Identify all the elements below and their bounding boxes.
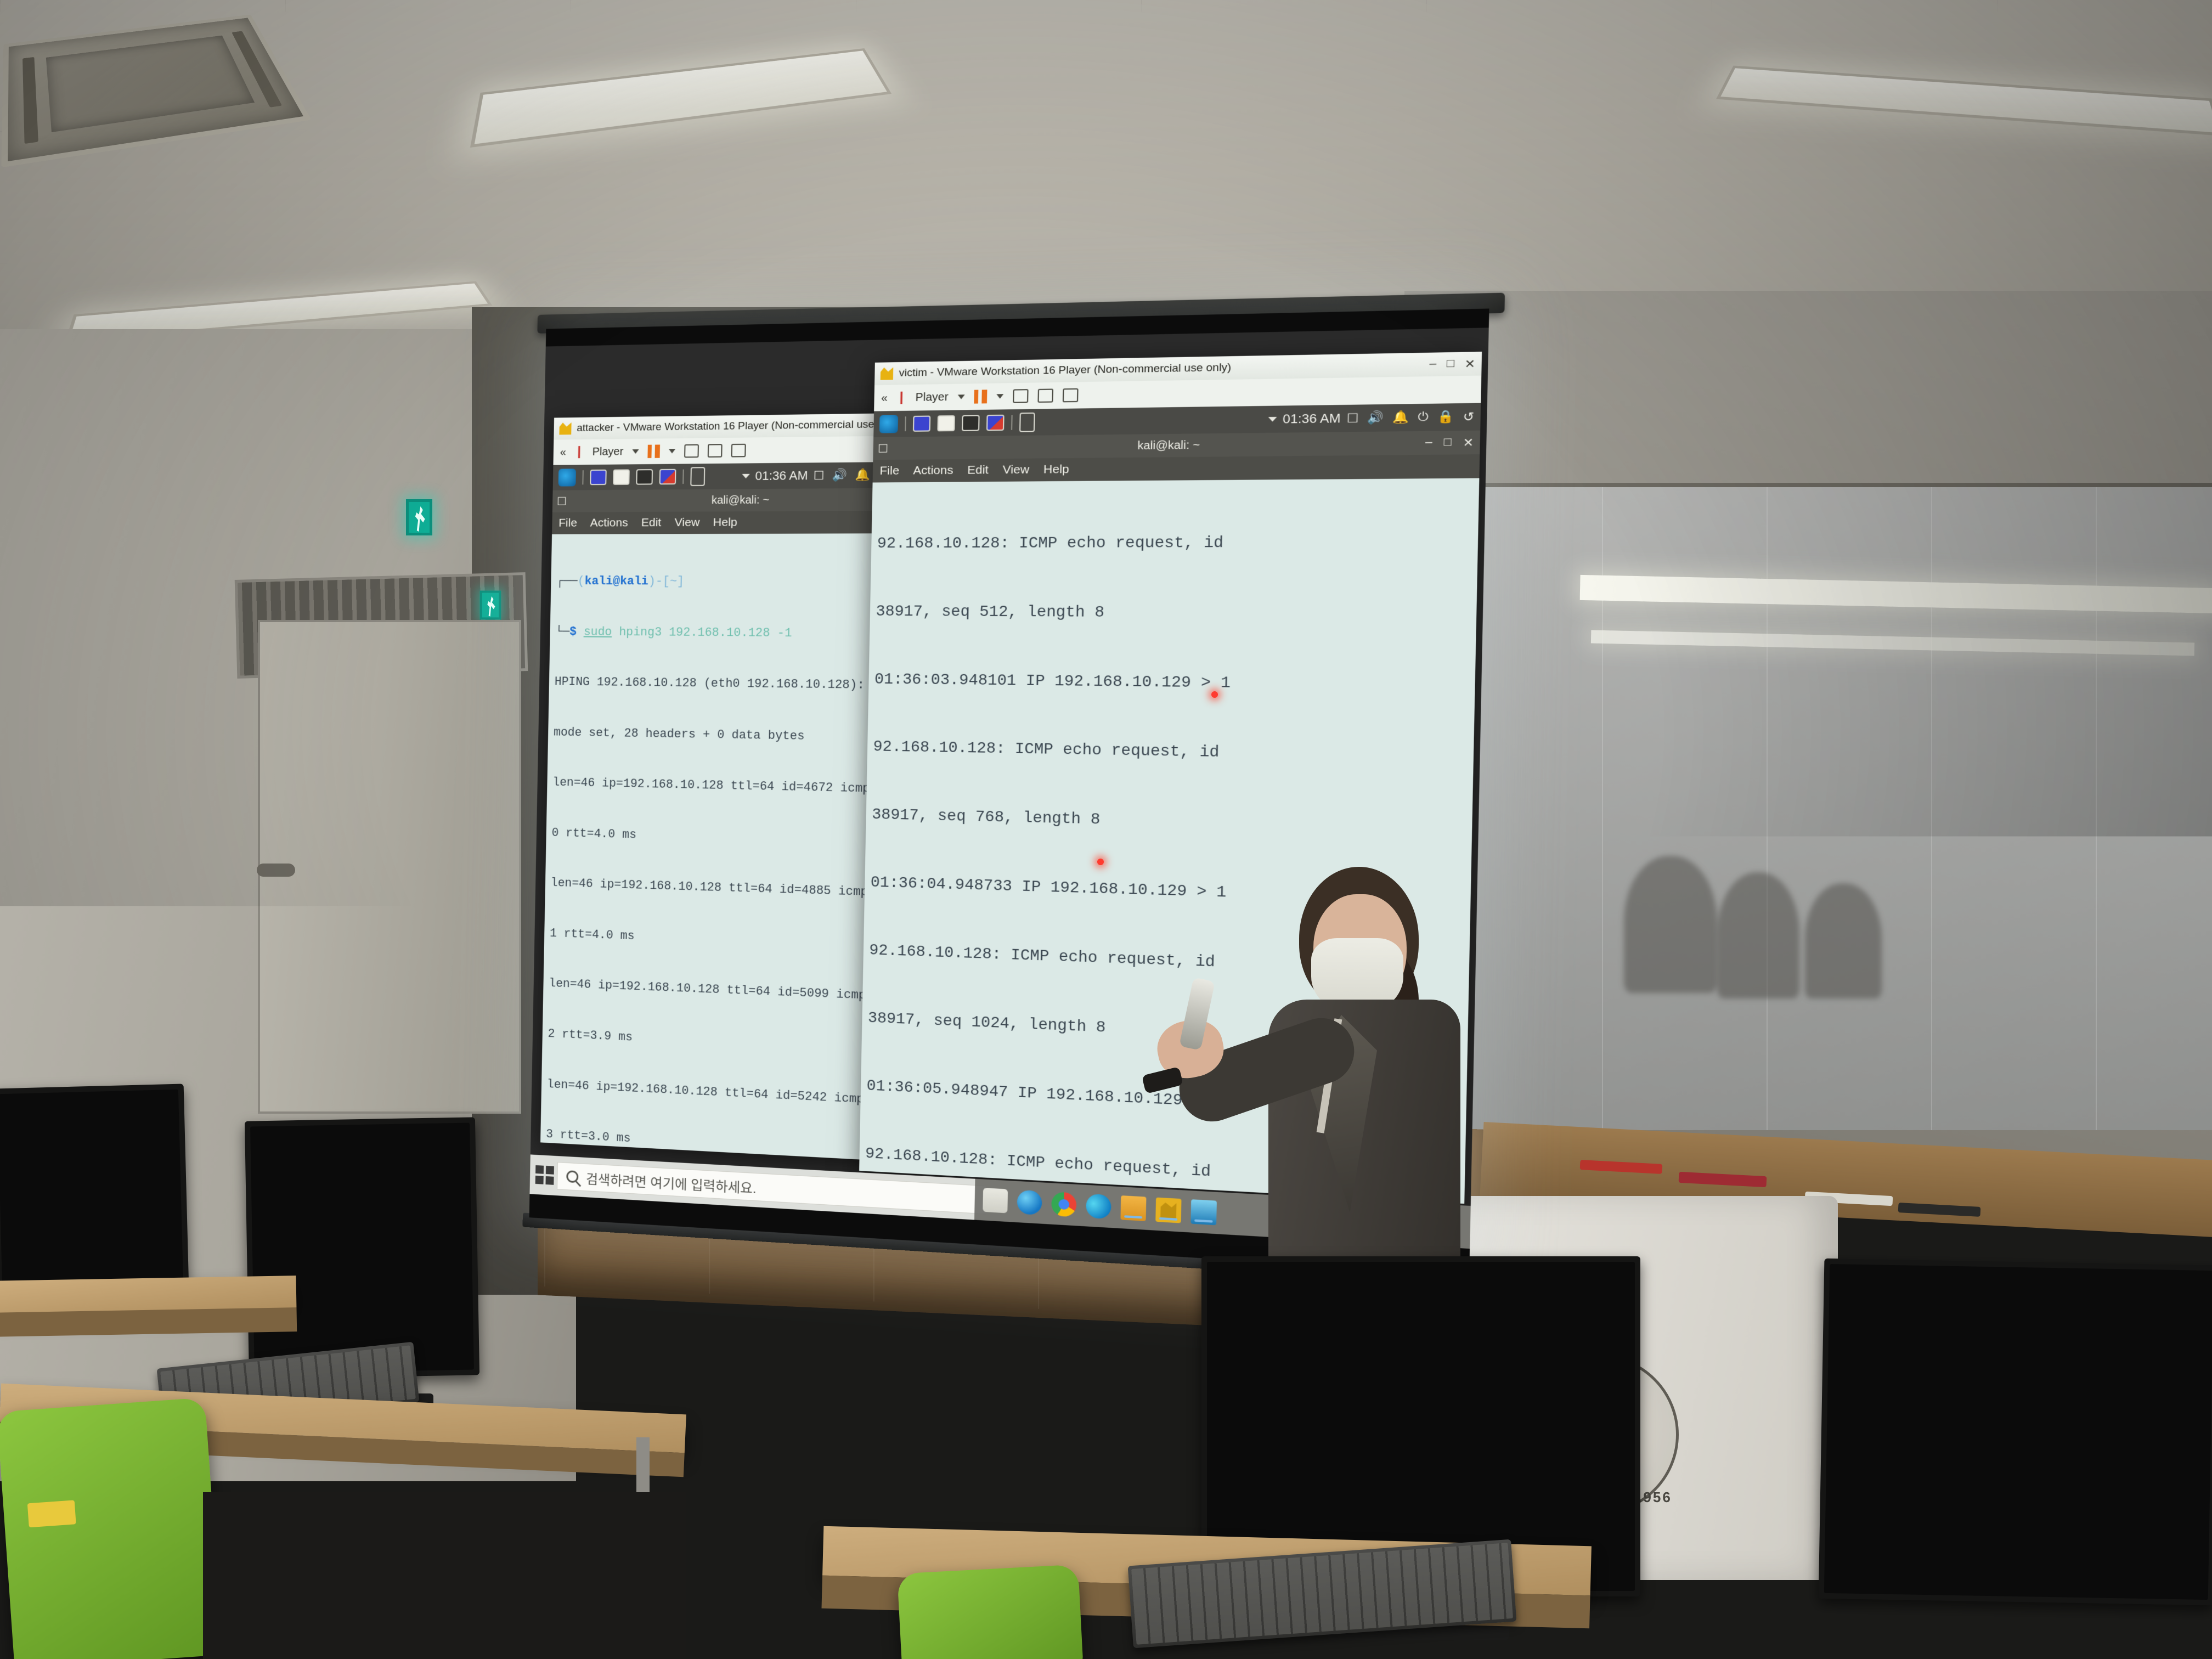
panel-separator-2 [682,470,684,484]
pause-icon[interactable] [647,444,660,458]
laser-pointer-dot-2 [1211,691,1218,698]
output-line: 01:36:03.948101 IP 192.168.10.129 > 1 [874,669,1470,698]
display-icon[interactable]: ☐ [1347,411,1359,426]
collapse-toolbar-icon[interactable]: « [560,446,566,459]
player-menu-button[interactable]: Player [915,391,949,404]
kali-dragon-icon[interactable] [879,415,898,433]
lock-icon[interactable]: 🔒 [1437,410,1454,424]
task-view-icon[interactable] [983,1188,1008,1213]
monitor-front-right [1819,1259,2212,1605]
chair-green[interactable] [0,1397,223,1659]
volume-icon[interactable]: 🔊 [832,469,848,482]
person-silhouette-1 [1624,856,1717,993]
burp-icon[interactable] [659,469,676,485]
monitor-back-mid [245,1117,479,1379]
search-icon [566,1170,578,1183]
search-placeholder: 검색하려면 여기에 입력하세요. [586,1168,757,1197]
menu-actions[interactable]: Actions [590,516,628,529]
menu-actions[interactable]: Actions [913,464,953,477]
vmware-logo-icon [559,422,571,435]
fullscreen-icon[interactable] [1037,388,1053,403]
person-silhouette-3 [1805,883,1882,998]
terminal-title-text: kali@kali: ~ [1137,438,1200,453]
person-silhouette-2 [1717,872,1799,998]
menu-file[interactable]: File [879,464,899,478]
workspace-switcher-icon[interactable] [1019,413,1035,432]
minimize-icon[interactable]: – [1429,357,1436,372]
command-rest: hping3 192.168.10.128 -1 [619,625,792,640]
panel-separator [905,416,906,431]
unity-mode-icon[interactable] [1063,388,1079,403]
terminal-icon[interactable] [913,415,930,431]
collapse-toolbar-icon[interactable]: « [881,392,888,405]
chair-green-front[interactable] [897,1564,1083,1659]
vmware-victim-title-text: victim - VMware Workstation 16 Player (N… [899,362,1231,380]
burp-icon[interactable] [986,415,1005,431]
vm-status-icon [896,392,906,404]
panel-separator-2 [1011,415,1013,430]
display-icon[interactable]: ☐ [814,469,825,483]
logout-icon[interactable]: ↺ [1463,409,1474,424]
output-line: 92.168.10.128: ICMP echo request, id [873,737,1469,770]
files-icon[interactable] [937,415,955,431]
menu-file[interactable]: File [558,517,577,530]
ac-vent-inner [46,36,255,132]
lecture-hall-photo: UNIVERSITY 1956 attacker - VMware Workst… [0,0,2212,1659]
kali-clock-area-victim[interactable]: 01:36 AM ☐ 🔊 🔔 ⏻ 🔒 ↺ [1268,409,1475,427]
chevron-down-icon[interactable] [1268,417,1277,422]
minimize-icon[interactable]: – [1425,436,1432,450]
terminal-window-controls[interactable]: – □ ✕ [1425,435,1474,450]
send-ctrl-alt-del-icon[interactable] [684,444,699,458]
output-line: 92.168.10.128: ICMP echo request, id [877,532,1473,556]
output-line: 38917, seq 768, length 8 [872,805,1468,842]
close-icon[interactable]: ✕ [1464,356,1475,371]
player-menu-chevron-down-icon[interactable] [632,449,639,454]
chair-label-tag [27,1500,76,1527]
terminal-tab-icon[interactable]: ☐ [878,441,888,455]
pause-chevron-down-icon[interactable] [996,394,1003,399]
close-icon[interactable]: ✕ [1463,435,1474,450]
file-explorer-icon[interactable] [1120,1195,1146,1221]
desk-row-back [0,1276,296,1313]
vmware-logo-icon [881,368,894,380]
chrome-icon[interactable] [1051,1192,1076,1217]
chevron-down-icon[interactable] [742,474,750,478]
door-handle[interactable] [257,864,295,877]
send-ctrl-alt-del-icon[interactable] [1013,389,1028,403]
terminal-icon[interactable] [590,470,606,485]
maximize-icon[interactable]: □ [1443,435,1452,450]
kali-icon[interactable] [1190,1199,1217,1225]
maximize-icon[interactable]: □ [1447,357,1455,371]
console-icon[interactable] [636,469,653,485]
menu-view[interactable]: View [674,516,699,530]
bell-icon[interactable]: 🔔 [1392,410,1409,425]
pause-icon[interactable] [974,390,987,403]
menu-edit[interactable]: Edit [641,516,662,529]
fullscreen-icon[interactable] [708,444,723,458]
emergency-exit-icon-1 [406,499,432,535]
window-controls-victim[interactable]: – □ ✕ [1429,356,1475,372]
player-menu-button[interactable]: Player [592,445,623,459]
emergency-exit-icon-2 [480,591,501,620]
menu-help[interactable]: Help [1043,462,1069,477]
panel-separator [582,470,583,484]
clock-label: 01:36 AM [755,469,808,483]
volume-icon[interactable]: 🔊 [1367,411,1384,425]
kali-tray-victim[interactable]: ☐ 🔊 🔔 ⏻ 🔒 ↺ [1347,409,1475,426]
bell-icon[interactable]: 🔔 [855,469,871,482]
prompt-user: kali@kali [584,575,648,588]
terminal-title-text: kali@kali: ~ [712,494,770,507]
output-line: 38917, seq 512, length 8 [876,601,1471,627]
menu-help[interactable]: Help [713,516,738,529]
kali-dragon-icon[interactable] [558,469,576,486]
terminal-tab-icon[interactable]: ☐ [557,494,567,508]
player-menu-chevron-down-icon[interactable] [958,394,965,399]
internet-explorer-icon[interactable] [1017,1190,1042,1215]
menu-edit[interactable]: Edit [967,464,989,477]
laser-pointer-dot-1 [1097,859,1104,865]
vmware-attacker-title-text: attacker - VMware Workstation 16 Player … [577,418,901,435]
desk-modesty-panel [203,1492,686,1659]
files-icon[interactable] [613,469,630,484]
desk-panel-right [1646,1613,2212,1659]
pause-chevron-down-icon[interactable] [669,449,675,453]
menu-view[interactable]: View [1002,463,1029,477]
classroom-door[interactable] [258,620,521,1114]
edge-icon[interactable] [1086,1194,1111,1220]
workspace-switcher-icon[interactable] [690,467,705,486]
unity-mode-icon[interactable] [731,444,746,458]
power-icon[interactable]: ⏻ [1418,410,1429,425]
clock-label: 01:36 AM [1283,411,1341,427]
vm-status-icon [574,446,583,458]
vmware-player-icon[interactable] [1155,1198,1181,1223]
windows-logo-icon[interactable] [535,1165,554,1185]
command-sudo: sudo [584,625,612,639]
prompt-path: [~] [663,575,685,588]
prompt-symbol: $ [569,625,577,639]
console-icon[interactable] [962,415,980,431]
